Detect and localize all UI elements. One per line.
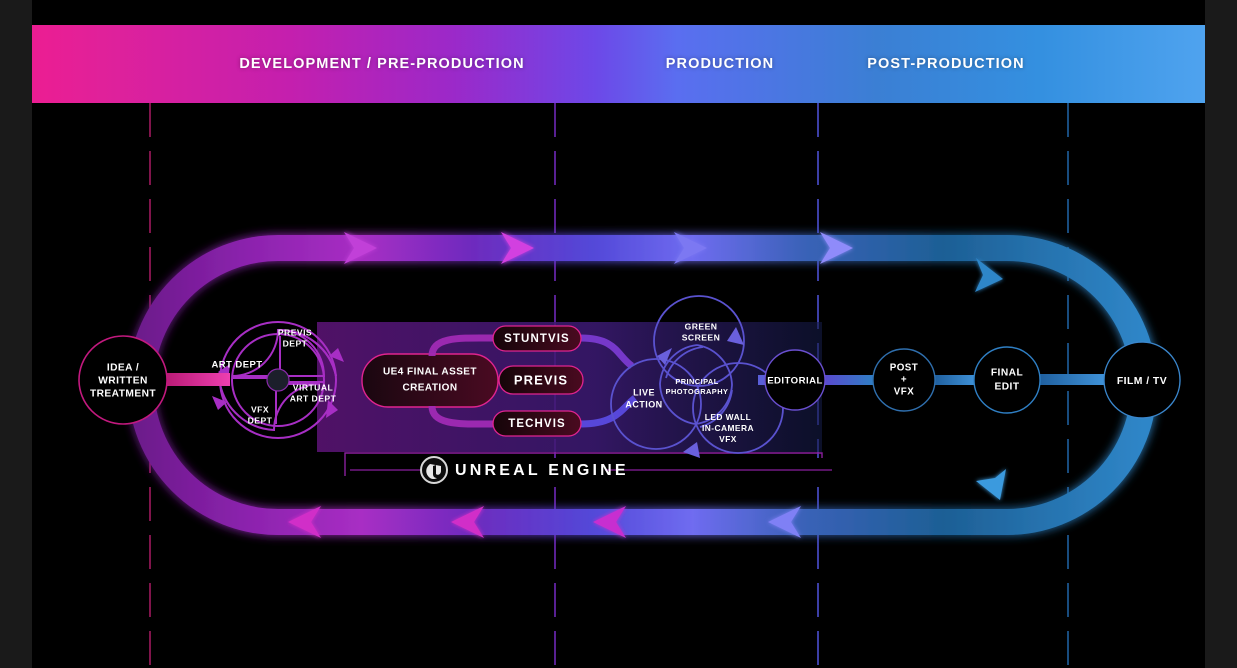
ue4-asset-label-line2: CREATION: [402, 383, 457, 394]
dept-label-art: ART DEPT: [211, 360, 262, 371]
node-idea[interactable]: IDEA / WRITTEN TREATMENT: [79, 336, 167, 424]
arrowhead-curve-top: [975, 258, 1003, 292]
unreal-engine-mark-icon: [421, 457, 447, 483]
node-final-edit-label-1: FINAL: [991, 368, 1023, 379]
node-post-vfx[interactable]: POST + VFX: [873, 349, 935, 411]
node-editorial-label: EDITORIAL: [767, 376, 823, 387]
node-final-edit[interactable]: FINAL EDIT: [974, 347, 1040, 413]
pp-label-live-1: LIVE: [633, 387, 655, 397]
pp-label-green-1: GREEN: [685, 321, 718, 331]
node-post-vfx-label-3: VFX: [894, 387, 914, 398]
dept-label-previs-2: DEPT: [283, 338, 308, 348]
ue4-asset-box[interactable]: [362, 354, 498, 407]
dept-label-virtual-2: ART DEPT: [290, 393, 337, 403]
dept-label-vfx-1: VFX: [251, 404, 269, 414]
pp-label-led-3: VFX: [719, 434, 737, 444]
node-final-edit-label-2: EDIT: [994, 382, 1019, 393]
connector-final-to-film: [1039, 374, 1105, 385]
diagram-canvas: DEVELOPMENT / PRE-PRODUCTION PRODUCTION …: [32, 0, 1205, 668]
dept-label-vfx-2: DEPT: [248, 415, 273, 425]
pill-stuntvis[interactable]: STUNTVIS: [493, 326, 581, 351]
pill-techvis-label: TECHVIS: [508, 418, 566, 430]
pill-stuntvis-label: STUNTVIS: [504, 333, 570, 345]
node-post-vfx-label-2: +: [901, 375, 907, 386]
pill-techvis[interactable]: TECHVIS: [493, 411, 581, 436]
pp-label-led-1: LED WALL: [705, 412, 751, 422]
connector-idea-to-dept: [164, 373, 230, 386]
pp-label-green-2: SCREEN: [682, 332, 721, 342]
node-idea-label-2: WRITTEN: [98, 376, 148, 387]
node-idea-label-3: TREATMENT: [90, 389, 156, 400]
diagram-stage: DEVELOPMENT / PRE-PRODUCTION PRODUCTION …: [0, 0, 1237, 668]
node-film-tv[interactable]: FILM / TV: [1104, 342, 1180, 418]
node-film-tv-label: FILM / TV: [1117, 376, 1167, 387]
ue4-final-asset-creation[interactable]: UE4 FINAL ASSET CREATION: [362, 354, 498, 407]
dept-hub: [267, 369, 289, 391]
pp-center-label-1: PRINCIPAL: [675, 377, 718, 386]
pp-center-label-2: PHOTOGRAPHY: [666, 387, 729, 396]
dept-label-virtual-1: VIRTUAL: [293, 382, 333, 392]
unreal-engine-wordmark: UNREAL ENGINE: [455, 462, 629, 479]
pp-label-led-2: IN-CAMERA: [702, 423, 754, 433]
ue4-asset-label-line1: UE4 FINAL ASSET: [383, 367, 477, 378]
node-editorial[interactable]: EDITORIAL: [765, 350, 825, 410]
pipeline-diagram: UE4 FINAL ASSET CREATION STUNTVIS PREVIS: [32, 0, 1205, 668]
connector-editorial-to-post: [824, 375, 874, 385]
node-final-edit-circle[interactable]: [974, 347, 1040, 413]
pill-previs[interactable]: PREVIS: [499, 366, 583, 394]
arrowhead-curve-bottom: [976, 469, 1006, 500]
connector-post-to-final: [934, 375, 976, 385]
dept-label-previs-1: PREVIS: [278, 327, 312, 337]
pp-label-live-2: ACTION: [625, 399, 662, 409]
node-post-vfx-label-1: POST: [890, 363, 918, 374]
pill-previs-label: PREVIS: [514, 372, 568, 387]
node-idea-label-1: IDEA /: [107, 363, 139, 374]
